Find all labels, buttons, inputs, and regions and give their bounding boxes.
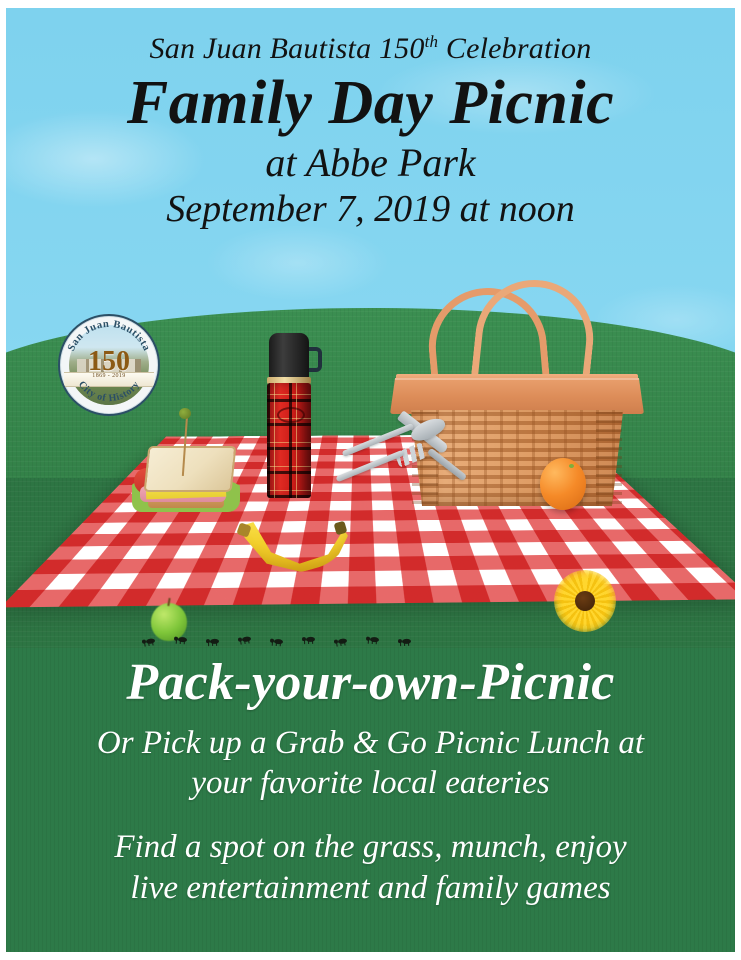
ant-leg	[312, 640, 313, 644]
ant-leg	[276, 642, 277, 646]
ant-trail	[142, 636, 432, 654]
ant-leg	[372, 640, 373, 644]
ant	[334, 637, 348, 646]
seal-top-arc-label: San Juan Bautista	[66, 319, 152, 353]
ant-leg	[216, 642, 217, 646]
body-text-block: Pack-your-own-Picnic Or Pick up a Grab &…	[6, 656, 735, 910]
ant-leg	[184, 640, 185, 644]
kicker-prefix: San Juan Bautista 150	[150, 32, 425, 65]
ant-leg	[404, 642, 405, 646]
basket-weave-texture-right	[596, 412, 622, 504]
sunflower	[554, 570, 616, 632]
ant	[366, 636, 379, 644]
event-venue: at Abbe Park	[6, 141, 735, 185]
ant	[398, 638, 411, 645]
ant	[238, 635, 252, 644]
sandwich-olive	[179, 408, 191, 419]
ant-leg	[212, 642, 213, 646]
grab-and-go-line-2: your favorite local eateries	[6, 763, 735, 803]
ant-leg	[208, 642, 209, 646]
ant	[270, 638, 283, 646]
ant-leg	[400, 642, 401, 646]
poster-inner-frame: San Juan Bautista 150th Celebration Fami…	[6, 8, 735, 952]
ant-leg	[368, 640, 369, 644]
orange-fruit	[540, 458, 586, 510]
ant	[174, 636, 187, 644]
event-datetime: September 7, 2019 at noon	[6, 189, 735, 231]
ant-leg	[408, 642, 409, 646]
ant-leg	[272, 642, 273, 646]
city-seal-logo: 150 1869 - 2019 San Juan Bautista City o…	[58, 314, 160, 416]
header-text-block: San Juan Bautista 150th Celebration Fami…	[6, 34, 735, 231]
thermos-logo-emblem	[277, 407, 305, 423]
sandwich	[132, 438, 240, 516]
thermos-cap	[269, 333, 309, 381]
thermos-plaid-body	[267, 383, 311, 498]
ant-leg	[304, 640, 305, 644]
ant	[142, 637, 156, 646]
sunflower-center	[575, 591, 595, 611]
ant-leg	[176, 640, 177, 644]
ant	[302, 636, 315, 643]
find-a-spot-line-1: Find a spot on the grass, munch, enjoy	[6, 827, 735, 868]
knife-handle	[427, 448, 468, 482]
seal-bottom-arc-label: City of History	[76, 379, 142, 404]
find-a-spot-line-2: live entertainment and family games	[6, 868, 735, 909]
silverware-set	[328, 413, 478, 513]
sandwich-top-bread	[144, 446, 237, 492]
kicker-suffix: Celebration	[438, 32, 591, 65]
basket-lid	[390, 378, 644, 414]
ant-leg	[180, 640, 181, 644]
seal-arc-text: San Juan Bautista City of History	[60, 316, 158, 414]
pack-your-own-picnic-headline: Pack-your-own-Picnic	[6, 656, 735, 711]
ant-leg	[308, 640, 309, 644]
event-kicker: San Juan Bautista 150th Celebration	[6, 34, 735, 64]
ant-leg	[280, 642, 281, 646]
ant-leg	[376, 640, 377, 644]
page-title: Family Day Picnic	[6, 71, 735, 135]
banana	[238, 520, 348, 572]
picnic-flyer-poster: San Juan Bautista 150th Celebration Fami…	[0, 0, 741, 960]
kicker-ordinal-suffix: th	[425, 32, 439, 51]
ant	[206, 638, 219, 645]
plaid-thermos	[265, 333, 313, 498]
grab-and-go-line-1: Or Pick up a Grab & Go Picnic Lunch at	[6, 723, 735, 763]
banana-body	[238, 520, 348, 572]
